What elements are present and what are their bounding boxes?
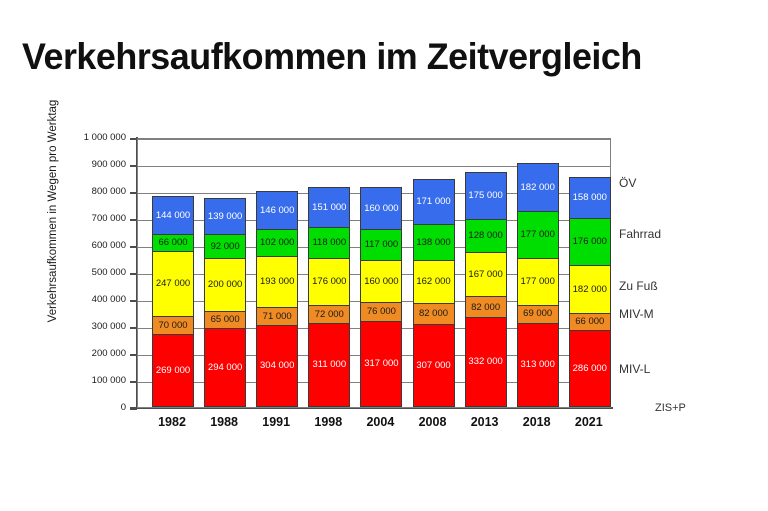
bar-segment-value: 311 000 xyxy=(312,360,346,370)
y-axis-tick-mark xyxy=(130,381,137,383)
bar-segment[interactable]: 286 000 xyxy=(569,330,611,407)
bar-segment-value: 176 000 xyxy=(312,277,346,287)
bar-segment-value: 128 000 xyxy=(468,231,502,241)
bar-segment[interactable]: 200 000 xyxy=(204,258,246,312)
bar-segment[interactable]: 160 000 xyxy=(360,187,402,230)
bar-segment[interactable]: 177 000 xyxy=(517,211,559,259)
bar-segment-value: 286 000 xyxy=(573,364,607,374)
bar-stack: 317 00076 000160 000117 000160 000 xyxy=(360,188,402,407)
y-axis-tick-mark xyxy=(130,408,137,410)
x-axis-tick-label: 2021 xyxy=(559,415,619,429)
bar-segment-value: 76 000 xyxy=(367,307,396,317)
bar-segment[interactable]: 66 000 xyxy=(152,234,194,252)
y-axis-tick-label: 400 000 xyxy=(92,294,126,305)
bar-segment[interactable]: 175 000 xyxy=(465,172,507,219)
bar-stack: 269 00070 000247 00066 000144 000 xyxy=(152,197,194,407)
bar-segment[interactable]: 162 000 xyxy=(413,260,455,304)
bar-segment[interactable]: 167 000 xyxy=(465,252,507,297)
bar-segment[interactable]: 158 000 xyxy=(569,177,611,220)
x-axis-tick-label: 2013 xyxy=(455,415,515,429)
bar-segment[interactable]: 69 000 xyxy=(517,305,559,324)
bar-stack: 294 00065 000200 00092 000139 000 xyxy=(204,199,246,407)
y-axis-tick-mark xyxy=(130,219,137,221)
bar-segment-value: 72 000 xyxy=(315,310,344,320)
y-axis-tick-labels: 1 000 000900 000800 000700 000600 000500… xyxy=(60,0,126,511)
y-axis-tick-label: 800 000 xyxy=(92,186,126,197)
bar-segment[interactable]: 177 000 xyxy=(517,258,559,306)
bar-segment[interactable]: 144 000 xyxy=(152,196,194,235)
x-axis-tick-label: 2004 xyxy=(350,415,410,429)
y-axis-tick-label: 100 000 xyxy=(92,375,126,386)
bar-segment[interactable]: 294 000 xyxy=(204,328,246,407)
bar-segment-value: 313 000 xyxy=(521,360,555,370)
bar-segment-value: 102 000 xyxy=(260,238,294,248)
legend-item-miv-l: MIV-L xyxy=(619,362,650,376)
bar-segment[interactable]: 160 000 xyxy=(360,260,402,303)
bar-segment[interactable]: 118 000 xyxy=(308,227,350,259)
bar-segment-value: 332 000 xyxy=(468,357,502,367)
y-axis-tick-mark xyxy=(130,165,137,167)
bar-segment-value: 200 000 xyxy=(208,280,242,290)
y-axis-tick-label: 600 000 xyxy=(92,240,126,251)
bar-segment-value: 66 000 xyxy=(575,317,604,327)
y-axis-tick-label: 300 000 xyxy=(92,321,126,332)
y-axis-title: Verkehrsaufkommen in Wegen pro Werktag xyxy=(47,96,59,326)
bar-segment-value: 182 000 xyxy=(573,285,607,295)
bar-segment[interactable]: 71 000 xyxy=(256,307,298,326)
source-note: ZIS+P xyxy=(655,402,686,414)
bar-segment-value: 69 000 xyxy=(523,309,552,319)
x-axis-tick-label: 1982 xyxy=(142,415,202,429)
bar-segment-value: 171 000 xyxy=(416,197,450,207)
x-axis-tick-label: 1998 xyxy=(298,415,358,429)
bar-segment-value: 146 000 xyxy=(260,206,294,216)
legend-item-v: ÖV xyxy=(619,176,636,190)
y-axis-tick-label: 700 000 xyxy=(92,213,126,224)
bar-segment-value: 139 000 xyxy=(208,212,242,222)
bar-segment-value: 247 000 xyxy=(156,279,190,289)
bar-segment-value: 144 000 xyxy=(156,211,190,221)
bar-segment[interactable]: 117 000 xyxy=(360,229,402,261)
bar-segment-value: 317 000 xyxy=(364,359,398,369)
bar-segment[interactable]: 102 000 xyxy=(256,229,298,257)
bar-segment-value: 138 000 xyxy=(416,238,450,248)
bar-segment-value: 65 000 xyxy=(211,315,240,325)
bar-segment[interactable]: 92 000 xyxy=(204,234,246,259)
y-axis-tick-label: 500 000 xyxy=(92,267,126,278)
x-axis-tick-label: 1988 xyxy=(194,415,254,429)
y-axis-tick-mark xyxy=(130,192,137,194)
bar-segment[interactable]: 65 000 xyxy=(204,311,246,329)
bar-segment-value: 307 000 xyxy=(416,361,450,371)
bar-segment[interactable]: 311 000 xyxy=(308,323,350,407)
bar-segment-value: 82 000 xyxy=(471,303,500,313)
bar-segment-value: 167 000 xyxy=(468,270,502,280)
gridline xyxy=(138,139,610,140)
y-axis-tick-mark xyxy=(130,354,137,356)
y-axis-tick-label: 1 000 000 xyxy=(84,132,126,143)
bar-segment[interactable]: 313 000 xyxy=(517,323,559,408)
y-axis-tick-mark xyxy=(130,246,137,248)
bar-stack: 286 00066 000182 000176 000158 000 xyxy=(569,178,611,407)
legend-item-zu-fu: Zu Fuß xyxy=(619,279,658,293)
bar-segment-value: 176 000 xyxy=(573,237,607,247)
bar-segment-value: 304 000 xyxy=(260,361,294,371)
bar-segment-value: 269 000 xyxy=(156,366,190,376)
bar-segment-value: 177 000 xyxy=(521,277,555,287)
bar-segment[interactable]: 139 000 xyxy=(204,198,246,236)
bar-segment-value: 71 000 xyxy=(263,312,292,322)
bar-segment-value: 118 000 xyxy=(312,238,346,248)
bar-segment[interactable]: 72 000 xyxy=(308,305,350,324)
bar-segment[interactable]: 76 000 xyxy=(360,302,402,323)
bar-segment[interactable]: 182 000 xyxy=(517,163,559,212)
bar-stack: 332 00082 000167 000128 000175 000 xyxy=(465,173,507,407)
bar-segment-value: 175 000 xyxy=(468,191,502,201)
bar-stack: 304 00071 000193 000102 000146 000 xyxy=(256,192,298,407)
bar-segment[interactable]: 171 000 xyxy=(413,179,455,225)
bar-segment-value: 162 000 xyxy=(416,277,450,287)
bar-stack: 311 00072 000176 000118 000151 000 xyxy=(308,188,350,407)
bar-stack: 307 00082 000162 000138 000171 000 xyxy=(413,180,455,407)
bar-segment[interactable]: 128 000 xyxy=(465,219,507,254)
bar-segment[interactable]: 193 000 xyxy=(256,256,298,308)
bar-segment[interactable]: 151 000 xyxy=(308,187,350,228)
bar-segment[interactable]: 82 000 xyxy=(465,296,507,318)
bar-segment-value: 182 000 xyxy=(521,183,555,193)
bar-segment[interactable]: 247 000 xyxy=(152,251,194,318)
legend-item-miv-m: MIV-M xyxy=(619,307,654,321)
bar-segment[interactable]: 82 000 xyxy=(413,303,455,325)
plot-area: 269 00070 000247 00066 000144 000294 000… xyxy=(137,138,611,408)
y-axis-tick-label: 200 000 xyxy=(92,348,126,359)
x-axis-tick-label: 1991 xyxy=(246,415,306,429)
bar-segment[interactable]: 138 000 xyxy=(413,224,455,261)
bar-stack: 313 00069 000177 000177 000182 000 xyxy=(517,164,559,407)
bar-segment-value: 158 000 xyxy=(573,193,607,203)
y-axis-tick-label: 0 xyxy=(121,402,126,413)
bar-segment-value: 117 000 xyxy=(365,240,399,250)
bar-segment[interactable]: 176 000 xyxy=(308,258,350,306)
bar-segment[interactable]: 66 000 xyxy=(569,313,611,331)
bar-segment-value: 160 000 xyxy=(364,277,398,287)
bar-segment[interactable]: 317 000 xyxy=(360,321,402,407)
bar-segment[interactable]: 307 000 xyxy=(413,324,455,407)
bar-segment[interactable]: 176 000 xyxy=(569,218,611,266)
x-axis-tick-label: 2008 xyxy=(403,415,463,429)
bar-segment-value: 294 000 xyxy=(208,363,242,373)
bar-segment[interactable]: 146 000 xyxy=(256,191,298,230)
bar-segment[interactable]: 304 000 xyxy=(256,325,298,407)
bar-segment-value: 151 000 xyxy=(312,203,346,213)
y-axis-tick-mark xyxy=(130,327,137,329)
bar-segment-value: 193 000 xyxy=(260,277,294,287)
bar-segment[interactable]: 182 000 xyxy=(569,265,611,314)
bar-segment[interactable]: 70 000 xyxy=(152,316,194,335)
bar-segment-value: 82 000 xyxy=(419,309,448,319)
x-axis-tick-label: 2018 xyxy=(507,415,567,429)
y-axis-tick-mark xyxy=(130,273,137,275)
bar-segment-value: 177 000 xyxy=(521,230,555,240)
bar-segment-value: 92 000 xyxy=(211,242,240,252)
y-axis-tick-label: 900 000 xyxy=(92,159,126,170)
bar-segment[interactable]: 269 000 xyxy=(152,334,194,407)
bar-segment-value: 160 000 xyxy=(364,204,398,214)
bar-segment[interactable]: 332 000 xyxy=(465,317,507,407)
y-axis-tick-mark xyxy=(130,300,137,302)
bar-segment-value: 66 000 xyxy=(158,238,187,248)
bar-segment-value: 70 000 xyxy=(158,321,187,331)
y-axis-tick-mark xyxy=(130,138,137,140)
legend-item-fahrrad: Fahrrad xyxy=(619,227,661,241)
